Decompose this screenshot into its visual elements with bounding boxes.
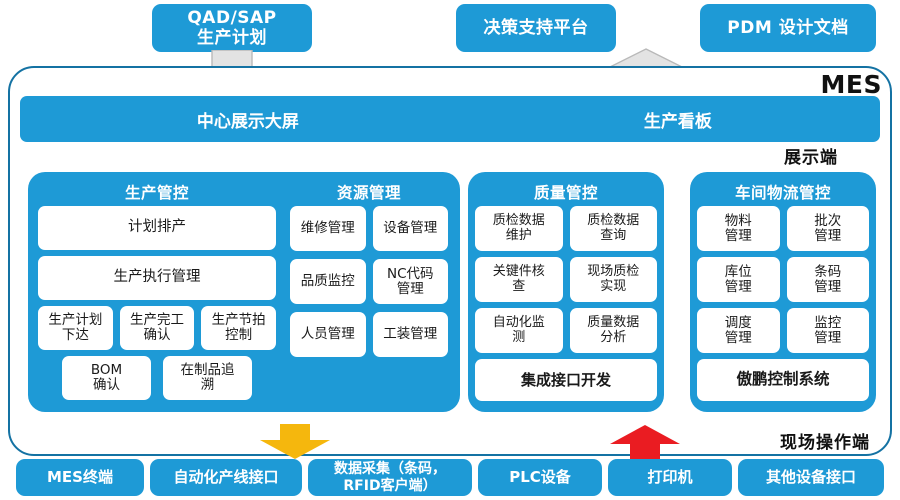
module-item[interactable]: 现场质检实现 [570, 257, 658, 302]
banner-item-center-display-screen[interactable]: 中心展示大屏 [20, 107, 476, 132]
module-panel-production-resource: 生产管控 计划排产 生产执行管理 生产计划下达 生产完工确认 生产节拍控制 BO… [28, 172, 460, 412]
module-item[interactable]: 人员管理 [290, 312, 366, 357]
device-label: 其他设备接口 [766, 469, 856, 487]
module-item[interactable]: 在制品追溯 [163, 356, 252, 400]
module-item[interactable]: NC代码管理 [373, 259, 449, 304]
device-label: 数据采集（条码，RFID客户端） [334, 461, 446, 494]
device-label: PLC设备 [509, 469, 571, 487]
external-system-decision-platform[interactable]: 决策支持平台 [456, 4, 616, 52]
device-mes-terminal[interactable]: MES终端 [16, 459, 144, 496]
module-item[interactable]: 批次管理 [787, 206, 870, 251]
module-item[interactable]: 生产计划下达 [38, 306, 113, 350]
display-end-label: 展示端 [784, 143, 838, 168]
module-item[interactable]: 生产执行管理 [38, 256, 276, 300]
floor-end-label: 现场操作端 [780, 428, 870, 453]
external-system-label: QAD/SAP生产计划 [187, 8, 276, 48]
module-title: 车间物流管控 [690, 181, 876, 203]
module-item[interactable]: 生产完工确认 [120, 306, 195, 350]
device-printer[interactable]: 打印机 [608, 459, 732, 496]
device-label: 打印机 [647, 469, 692, 487]
module-item[interactable]: 质检数据查询 [570, 206, 658, 251]
module-title: 生产管控 [36, 181, 278, 203]
device-data-acquisition[interactable]: 数据采集（条码，RFID客户端） [308, 459, 472, 496]
display-banner: 中心展示大屏 生产看板 [20, 96, 880, 142]
module-item[interactable]: 维修管理 [290, 206, 366, 251]
device-label: 自动化产线接口 [173, 469, 278, 487]
module-panel-workshop-logistics: 车间物流管控 物料管理 批次管理 库位管理 条码管理 调度管理 监控管理 傲鹏控… [690, 172, 876, 412]
module-production-control: 生产管控 计划排产 生产执行管理 生产计划下达 生产完工确认 生产节拍控制 BO… [36, 172, 278, 412]
module-item[interactable]: 自动化监测 [475, 308, 563, 353]
module-item[interactable]: 质量数据分析 [570, 308, 658, 353]
module-title: 质量管控 [468, 181, 664, 203]
module-item[interactable]: 质检数据维护 [475, 206, 563, 251]
arrow-data-up-icon [608, 424, 682, 460]
external-system-label: PDM 设计文档 [727, 18, 848, 38]
external-system-label: 决策支持平台 [484, 18, 589, 38]
module-item[interactable]: 生产节拍控制 [201, 306, 276, 350]
module-item[interactable]: 调度管理 [697, 308, 780, 353]
module-item[interactable]: 品质监控 [290, 259, 366, 304]
module-item[interactable]: 计划排产 [38, 206, 276, 250]
module-title: 资源管理 [286, 181, 452, 203]
module-resource-management: 资源管理 维修管理 设备管理 品质监控 NC代码管理 人员管理 工装管理 [286, 172, 452, 412]
module-item[interactable]: BOM确认 [62, 356, 151, 400]
banner-item-production-kanban[interactable]: 生产看板 [476, 107, 880, 132]
banner-item-label: 中心展示大屏 [197, 112, 299, 132]
module-item[interactable]: 物料管理 [697, 206, 780, 251]
device-other-interface[interactable]: 其他设备接口 [738, 459, 884, 496]
mes-system-label: MES [821, 70, 882, 99]
external-system-pdm[interactable]: PDM 设计文档 [700, 4, 876, 52]
module-item[interactable]: 关键件核查 [475, 257, 563, 302]
module-item[interactable]: 工装管理 [373, 312, 449, 357]
device-automation-line-interface[interactable]: 自动化产线接口 [150, 459, 302, 496]
module-item[interactable]: 条码管理 [787, 257, 870, 302]
banner-item-label: 生产看板 [644, 112, 712, 132]
module-item[interactable]: 设备管理 [373, 206, 449, 251]
mes-architecture-diagram: QAD/SAP生产计划 决策支持平台 PDM 设计文档 MES 中心展示大屏 生… [0, 0, 900, 500]
module-panel-quality-control: 质量管控 质检数据维护 质检数据查询 关键件核查 现场质检实现 自动化监测 质量… [468, 172, 664, 412]
module-item[interactable]: 集成接口开发 [475, 359, 657, 401]
device-label: MES终端 [47, 469, 113, 487]
device-plc-equipment[interactable]: PLC设备 [478, 459, 602, 496]
module-item[interactable]: 库位管理 [697, 257, 780, 302]
module-item[interactable]: 监控管理 [787, 308, 870, 353]
arrow-data-down-icon [258, 424, 332, 460]
external-system-qad-sap[interactable]: QAD/SAP生产计划 [152, 4, 312, 52]
module-item[interactable]: 傲鹏控制系统 [697, 359, 869, 401]
